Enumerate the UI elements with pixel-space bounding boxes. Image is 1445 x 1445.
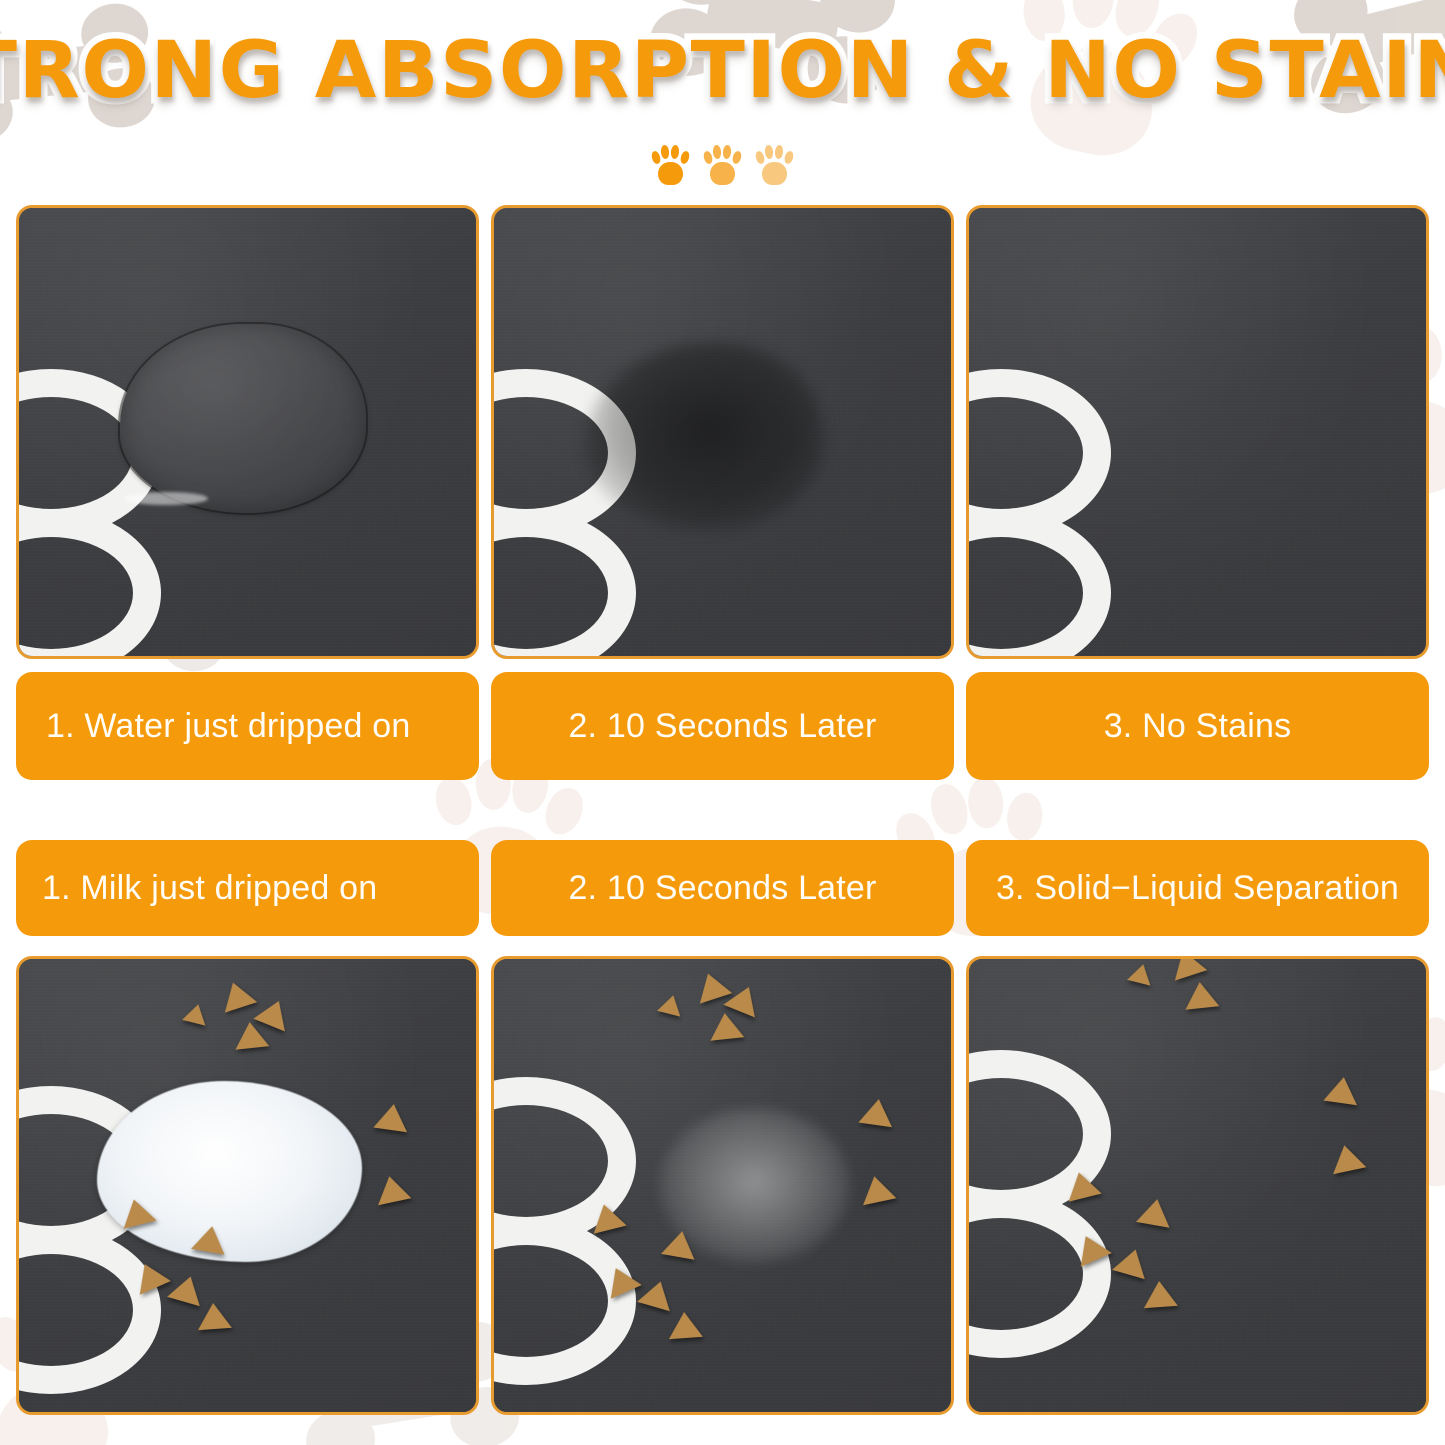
milk-photo-row [16, 956, 1429, 1415]
section-milk-test: 1. Milk just dripped on 2. 10 Seconds La… [16, 840, 1429, 1415]
section-water-test: 1. Water just dripped on 2. 10 Seconds L… [16, 205, 1429, 780]
paw-divider [0, 138, 1445, 192]
comparison-grid: 1. Water just dripped on 2. 10 Seconds L… [16, 205, 1429, 1415]
page-title: STRONG ABSORPTION & NO STAINS [0, 26, 1445, 116]
paw-print-icon [704, 144, 742, 186]
label-milk-step-3: 3. Solid−Liquid Separation [966, 840, 1429, 936]
kibble-piece [667, 1311, 703, 1339]
photo-milk-absorbing [491, 956, 954, 1415]
photo-water-dripped [16, 205, 479, 659]
kibble-piece [1142, 1279, 1178, 1307]
kibble-piece [374, 1102, 411, 1132]
water-puddle [120, 324, 367, 512]
paw-print-icon [652, 144, 690, 186]
kibble-piece [1183, 980, 1220, 1009]
kibble-piece [661, 1228, 699, 1260]
water-label-row: 1. Water just dripped on 2. 10 Seconds L… [16, 672, 1429, 780]
label-milk-step-1: 1. Milk just dripped on [16, 840, 479, 936]
photo-milk-separated [966, 956, 1429, 1415]
photo-water-absorbing [491, 205, 954, 659]
kibble-piece [233, 1021, 270, 1050]
water-photo-row [16, 205, 1429, 659]
photo-milk-dripped [16, 956, 479, 1415]
label-water-step-3: 3. No Stains [966, 672, 1429, 780]
pet-mat-surface [969, 959, 1426, 1412]
kibble-piece [858, 1097, 895, 1127]
kibble-piece [196, 1302, 232, 1330]
kibble-piece [1324, 1075, 1361, 1105]
header-title-container: STRONG ABSORPTION & NO STAINS [0, 18, 1445, 123]
label-water-step-1: 1. Water just dripped on [16, 672, 479, 780]
label-water-step-2: 2. 10 Seconds Later [491, 672, 954, 780]
label-milk-step-2: 2. 10 Seconds Later [491, 840, 954, 936]
milk-spill [97, 1081, 362, 1262]
photo-water-no-stains [966, 205, 1429, 659]
milk-label-row: 1. Milk just dripped on 2. 10 Seconds La… [16, 840, 1429, 936]
paw-print-icon [756, 144, 794, 186]
kibble-piece [708, 1012, 745, 1041]
pet-mat-surface [969, 208, 1426, 656]
